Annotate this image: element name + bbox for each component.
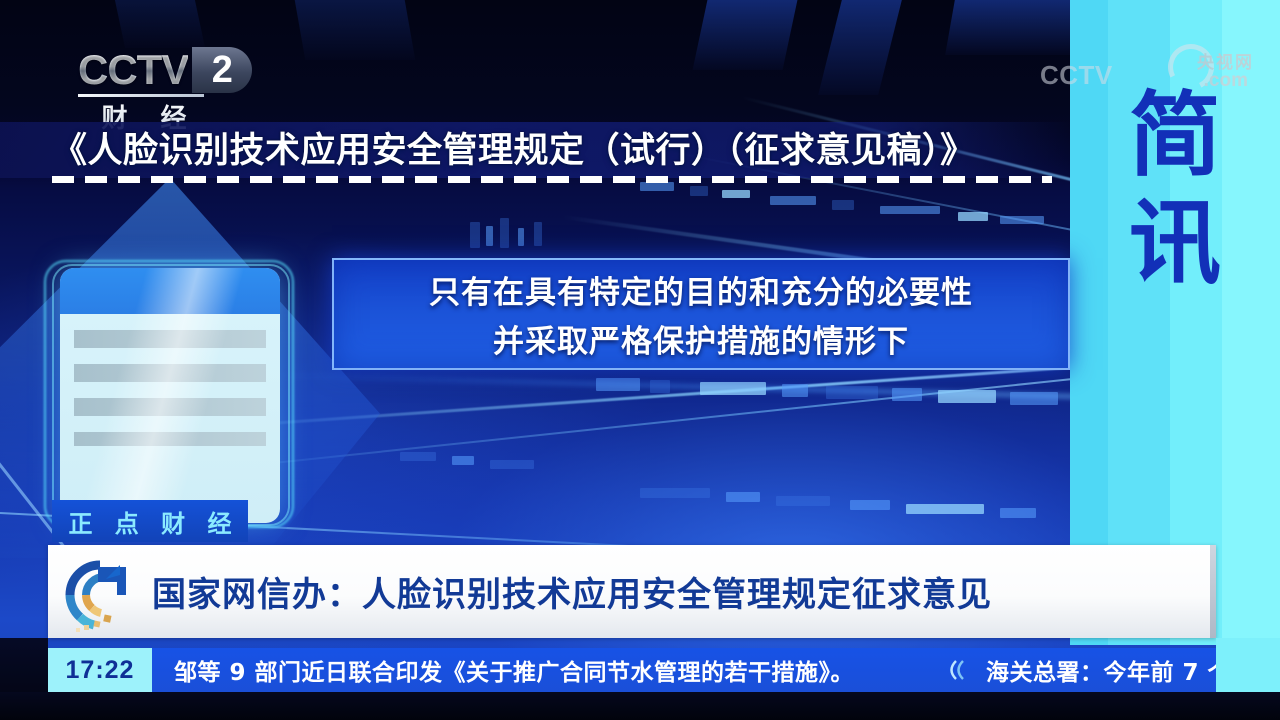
ticker-item-2: 海关总署：今年前 7 个月， — [986, 653, 1216, 687]
quote-line-2: 并采取严格保护措施的情形下 — [493, 316, 909, 361]
program-badge: 正 点 财 经 — [52, 500, 248, 542]
watermark-cctv-text: CCTV — [1040, 60, 1113, 91]
ticker-item-1: 邹等 9 部门近日联合印发《关于推广合同节水管理的若干措施》。 — [174, 653, 854, 687]
channel-logo: CCTV 2 财 经 — [78, 46, 268, 128]
headline-bar: 国家网信办：人脸识别技术应用安全管理规定征求意见 — [48, 545, 1216, 638]
channel-logo-text: CCTV — [78, 47, 188, 93]
double-angle-icon — [946, 657, 972, 683]
sidebar-label-line2: 讯 — [1080, 190, 1270, 298]
watermark-site-com: .com — [1204, 70, 1248, 92]
cctv-com-watermark: CCTV 央视网 .com — [1082, 46, 1262, 100]
bottom-right-filler — [1216, 638, 1280, 692]
channel-logo-number: 2 — [212, 50, 233, 90]
sidebar-label: 简 讯 — [1080, 82, 1270, 298]
bottom-letterbox — [0, 692, 1280, 720]
channel-logo-underline — [78, 94, 204, 97]
channel-number-badge: 2 — [192, 47, 252, 93]
broadcast-screen: 简 讯 CCTV 央视网 .com CCTV 2 财 经 《人脸识别技术应用安全… — [0, 0, 1280, 720]
cctv-finance-swoosh-icon — [48, 545, 152, 638]
news-ticker: 17:22 邹等 9 部门近日联合印发《关于推广合同节水管理的若干措施》。 海关… — [48, 648, 1216, 692]
quote-box: 只有在具有特定的目的和充分的必要性 并采取严格保护措施的情形下 — [332, 258, 1070, 370]
ticker-items: 邹等 9 部门近日联合印发《关于推广合同节水管理的若干措施》。 海关总署：今年前… — [152, 648, 1216, 692]
regulation-title: 《人脸识别技术应用安全管理规定（试行）（征求意见稿）》 — [52, 125, 1052, 177]
ticker-clock: 17:22 — [48, 648, 152, 692]
headline-text: 国家网信办：人脸识别技术应用安全管理规定征求意见 — [152, 567, 992, 616]
quote-line-1: 只有在具有特定的目的和充分的必要性 — [429, 267, 973, 312]
headline-right-cap — [1210, 545, 1216, 638]
title-dashed-underline — [52, 176, 1052, 183]
program-badge-label: 正 点 财 经 — [61, 504, 238, 539]
document-illustration — [60, 268, 280, 523]
